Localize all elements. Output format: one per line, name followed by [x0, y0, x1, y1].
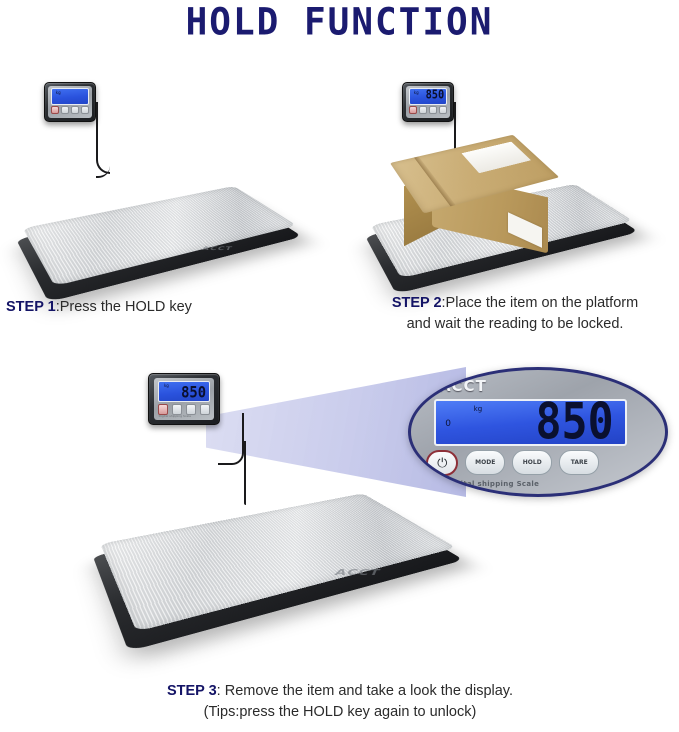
hold-button[interactable]: HOLD	[512, 450, 552, 475]
magnified-button-row: ⏻ MODE HOLD TARE	[426, 452, 650, 474]
cable-step1-lower	[96, 160, 110, 178]
step-3-separator: :	[217, 683, 225, 699]
step-1-text: Press the HOLD key	[60, 299, 192, 315]
page-title: HOLD FUNCTION	[0, 1, 679, 44]
button-row	[409, 106, 447, 115]
hold-button[interactable]	[429, 106, 437, 115]
tare-button[interactable]	[81, 106, 89, 115]
box-seam	[414, 157, 456, 207]
mode-button[interactable]	[419, 106, 427, 115]
lcd-unit-label: kg	[56, 90, 61, 95]
head-subtitle: Digital shipping Scale	[159, 414, 191, 418]
step-1-label: STEP 1	[6, 299, 56, 315]
brand-logo: ACCT	[439, 377, 487, 395]
step-3-text: Remove the item and take a look the disp…	[225, 683, 513, 699]
display-head-step2: kg 850	[402, 82, 454, 122]
step-2-caption: STEP 2:Place the item on the platform an…	[355, 293, 675, 335]
head-faceplate: kg	[48, 86, 92, 119]
magnified-display-circle: ACCT kg 0 850 ⏻ MODE HOLD TARE Digital s…	[408, 367, 668, 497]
step-3-text-line2: (Tips:press the HOLD key again to unlock…	[60, 702, 620, 723]
box-shipping-label-small	[508, 212, 542, 248]
step-2-text: Place the item on the platform	[446, 295, 639, 311]
mode-button[interactable]	[172, 404, 182, 415]
product-subtitle: Digital shipping Scale	[447, 480, 540, 488]
lcd-reading: 850	[425, 90, 447, 104]
box-shipping-label	[461, 142, 531, 173]
cardboard-box	[402, 122, 552, 247]
power-button[interactable]	[158, 404, 168, 415]
hold-button[interactable]	[71, 106, 79, 115]
infographic-page: HOLD FUNCTION kg	[0, 0, 679, 732]
magnified-lcd-screen: kg 0 850	[434, 399, 627, 446]
head-faceplate: kg 850	[406, 86, 450, 119]
scale-platform-step1: ACCT	[30, 178, 290, 298]
head-faceplate: kg 850 Digital shipping Scale	[154, 378, 214, 421]
tare-button[interactable]	[200, 404, 210, 415]
cable-step3-upper	[218, 413, 244, 465]
mode-button[interactable]: MODE	[465, 450, 505, 475]
button-row	[158, 404, 210, 415]
lcd-reading: 850	[181, 382, 210, 401]
magnified-lcd-unit: kg	[474, 405, 483, 413]
step-2-label: STEP 2	[392, 295, 442, 311]
step-3-illustration: kg 850 Digital shipping Scale ACCT kg	[0, 355, 679, 675]
lcd-screen: kg 850	[158, 381, 210, 402]
tare-button[interactable]: TARE	[559, 450, 599, 475]
mode-button[interactable]	[61, 106, 69, 115]
power-button[interactable]	[409, 106, 417, 115]
step-1-illustration: kg ACCT	[0, 60, 340, 290]
magnified-lcd-reading: 850	[535, 393, 628, 451]
lcd-screen: kg	[51, 88, 89, 104]
hold-button[interactable]	[186, 404, 196, 415]
lcd-screen: kg 850	[409, 88, 447, 104]
step-1-caption: STEP 1:Press the HOLD key	[6, 297, 192, 318]
lcd-unit-label: kg	[164, 383, 169, 388]
magnified-zero-indicator: 0	[445, 419, 451, 429]
step-3-caption: STEP 3: Remove the item and take a look …	[60, 681, 620, 723]
tare-button[interactable]	[439, 106, 447, 115]
magnifier-content: ACCT kg 0 850 ⏻ MODE HOLD TARE Digital s…	[411, 370, 665, 494]
button-row	[51, 106, 89, 115]
lcd-unit-label: kg	[414, 90, 419, 95]
step-2-text-line2: and wait the reading to be locked.	[355, 314, 675, 335]
step-3-label: STEP 3	[167, 683, 217, 699]
step-2-illustration: kg 850	[340, 60, 679, 290]
display-head-step1: kg	[44, 82, 96, 122]
display-head-step3: kg 850 Digital shipping Scale	[148, 373, 220, 425]
scale-platform-step3: ACCT	[112, 473, 442, 643]
power-button[interactable]	[51, 106, 59, 115]
